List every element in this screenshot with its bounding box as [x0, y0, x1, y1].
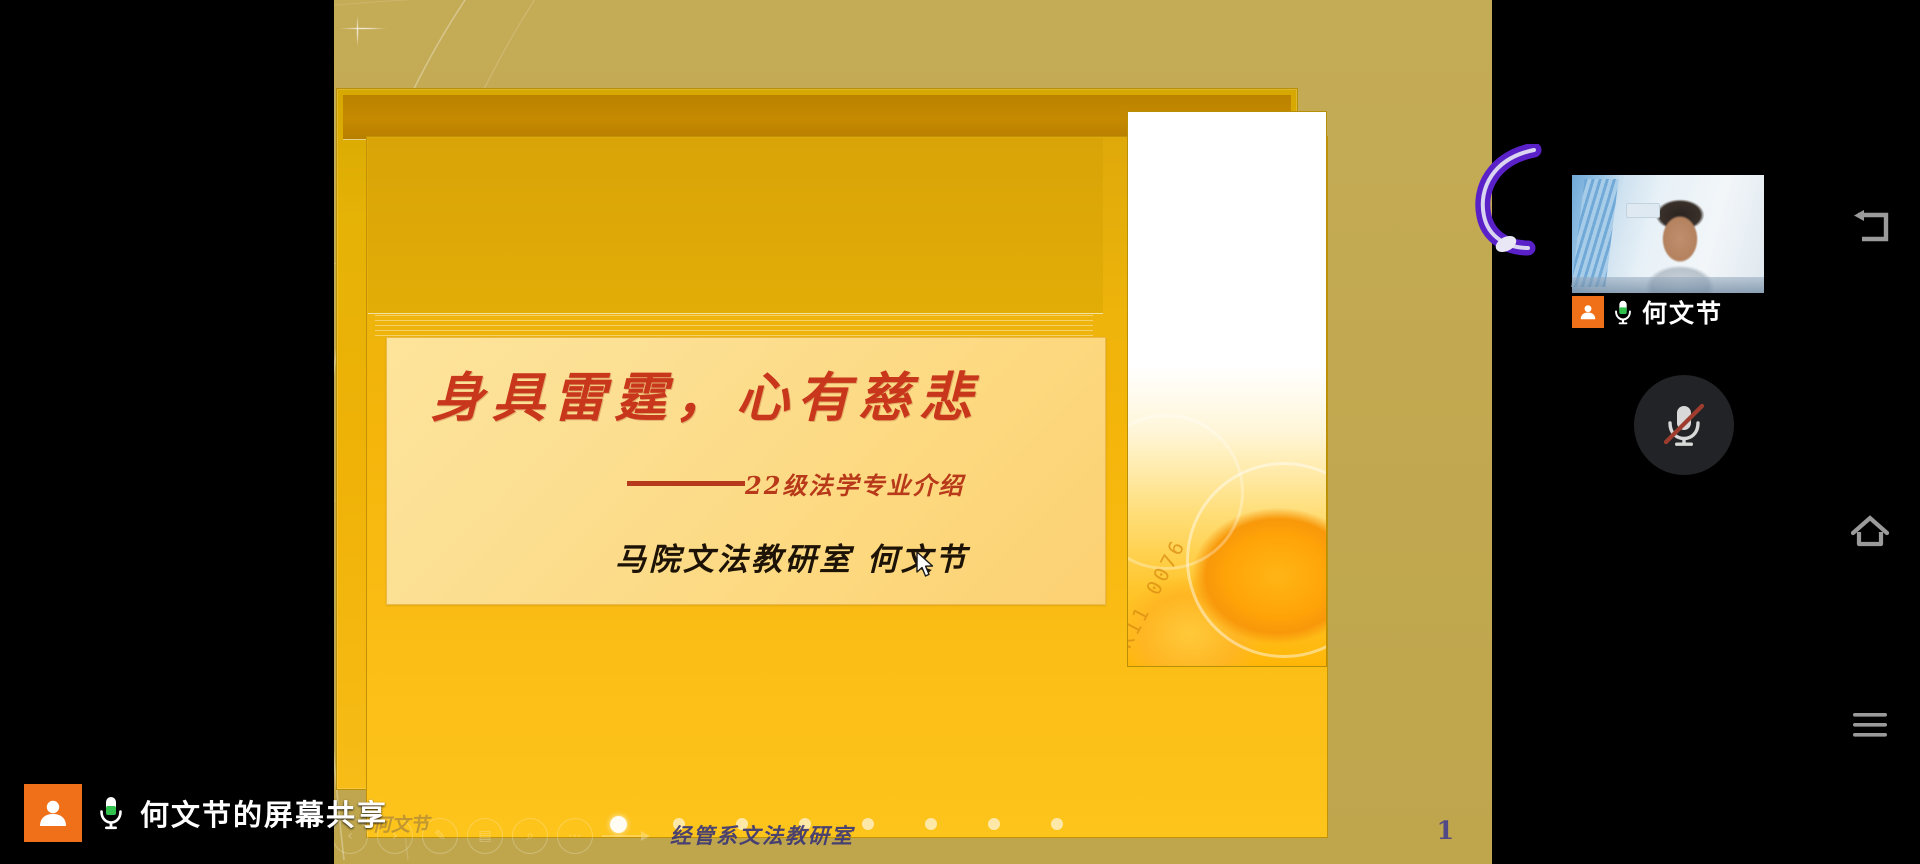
slide-progress-dot	[988, 818, 1000, 830]
slide-subtitle-row: 22级法学专业介绍	[627, 466, 1087, 501]
slide-progress-dot	[862, 818, 874, 830]
slide-title: 身具雷霆，心有慈悲	[431, 372, 1071, 425]
purple-swirl-decoration	[1472, 144, 1564, 256]
person-avatar-icon	[24, 784, 82, 842]
mouse-cursor	[915, 551, 937, 579]
slide-overview-button[interactable]: ▤	[467, 818, 503, 854]
home-button[interactable]	[1838, 500, 1902, 564]
slide-progress-dot	[925, 818, 937, 830]
person-avatar-icon	[1572, 296, 1604, 328]
slide-rule-stripes	[375, 315, 1093, 337]
screen-root: K11 0076 身具雷霆，心有慈悲 22级法学专业介绍 马院文法教研室 何文节…	[0, 0, 1920, 864]
slide-surface[interactable]: K11 0076 身具雷霆，心有慈悲 22级法学专业介绍 马院文法教研室 何文节	[366, 136, 1328, 838]
microphone-active-icon	[1612, 299, 1634, 326]
slide-page-number: 1	[1437, 816, 1454, 845]
back-button[interactable]	[1838, 196, 1902, 260]
window-blinds-decoration	[1571, 179, 1618, 287]
screen-share-label: 何文节的屏幕共享	[140, 792, 388, 834]
sparkle-decoration	[356, 8, 359, 54]
hamburger-menu-icon	[1848, 710, 1892, 740]
slide-title-card: 身具雷霆，心有慈悲 22级法学专业介绍 马院文法教研室 何文节	[386, 337, 1106, 605]
menu-button[interactable]	[1838, 693, 1902, 757]
gold-coin-image: K11 0076	[1128, 366, 1326, 666]
participant-video-tile[interactable]	[1572, 175, 1764, 293]
microphone-active-icon	[96, 795, 126, 831]
mute-microphone-button[interactable]	[1634, 375, 1734, 475]
zoom-in-button[interactable]: ⌕	[512, 818, 548, 854]
desk-decoration	[1572, 277, 1764, 293]
slide-subtitle: 22级法学专业介绍	[745, 466, 964, 501]
toolbar-pointer-arrow-icon	[602, 835, 648, 837]
slide-coin-column: K11 0076	[1127, 111, 1327, 667]
shared-screen-area[interactable]: K11 0076 身具雷霆，心有慈悲 22级法学专业介绍 马院文法教研室 何文节…	[334, 0, 1492, 864]
presentation-toolbar[interactable]: ‹ › ✎ ▤ ⌕ ⋯ 何文节	[334, 816, 762, 856]
home-icon	[1848, 513, 1892, 551]
wall-unit-decoration	[1626, 203, 1660, 218]
android-navigation-bar	[1810, 0, 1920, 864]
participant-name: 何文节	[1642, 294, 1723, 330]
back-arrow-icon	[1848, 209, 1892, 247]
screen-share-banner: 何文节的屏幕共享	[24, 784, 388, 842]
microphone-muted-icon	[1657, 398, 1711, 452]
slide-progress-dot	[1051, 818, 1063, 830]
participant-video-feed	[1572, 175, 1764, 293]
subtitle-rule-decoration	[627, 481, 745, 486]
coin-column-white-band	[1128, 112, 1326, 132]
meeting-right-rail: 何文节	[1492, 0, 1920, 864]
sparkle-decoration	[334, 27, 398, 30]
more-options-button[interactable]: ⋯	[557, 818, 593, 854]
participant-tile-footer: 何文节	[1572, 293, 1723, 331]
slide-upper-panel	[368, 138, 1103, 314]
